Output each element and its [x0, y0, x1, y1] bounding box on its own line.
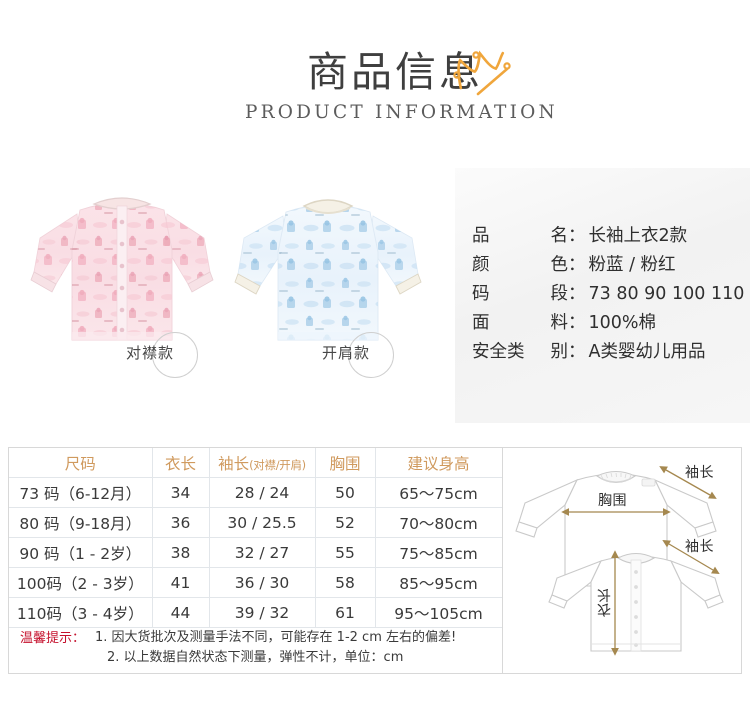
spec-value-color: 粉蓝 / 粉红: [589, 251, 676, 276]
cell-sleeve: 30 / 25.5: [209, 508, 315, 538]
spec-row-safety: 安全类 别 ： A类婴幼儿用品: [472, 338, 747, 367]
cell-chest: 61: [315, 598, 375, 628]
th-sleeve: 袖长(对襟/开肩): [209, 448, 315, 478]
cell-height: 95～105cm: [375, 598, 502, 628]
label-garment-length: 衣长: [595, 588, 615, 617]
cell-size: 90 码（1 - 2岁）: [9, 538, 152, 568]
measurement-diagram: 袖长 胸围 袖长 衣长: [502, 448, 742, 673]
cell-sleeve: 28 / 24: [209, 478, 315, 508]
blue-garment-caption: 开肩款: [322, 342, 370, 363]
spec-row-material: 面 料 ： 100%棉: [472, 309, 747, 338]
cell-height: 70～80cm: [375, 508, 502, 538]
cell-length: 34: [152, 478, 209, 508]
pink-garment-photo: [22, 180, 222, 355]
table-row: 100码（2 - 3岁） 41 36 / 30 58 85～95cm: [9, 568, 502, 598]
page-subtitle: PRODUCT INFORMATION: [245, 102, 545, 123]
cell-height: 75～85cm: [375, 538, 502, 568]
spec-colon: ：: [568, 251, 586, 276]
spec-colon: ：: [568, 222, 586, 247]
spec-row-color: 颜 色 ： 粉蓝 / 粉红: [472, 251, 747, 280]
spec-value-name: 长袖上衣2款: [589, 222, 688, 247]
cell-chest: 58: [315, 568, 375, 598]
table-header-row: 尺码 衣长 袖长(对襟/开肩) 胸围 建议身高: [9, 448, 502, 478]
cell-sleeve: 39 / 32: [209, 598, 315, 628]
size-table: 尺码 衣长 袖长(对襟/开肩) 胸围 建议身高 73 码（6-12月） 34 2…: [9, 448, 503, 668]
cell-chest: 52: [315, 508, 375, 538]
table-row: 73 码（6-12月） 34 28 / 24 50 65～75cm: [9, 478, 502, 508]
page-header: 商品信息 PRODUCT INFORMATION: [0, 0, 750, 150]
label-sleeve-top: 袖长: [685, 462, 714, 482]
cell-length: 38: [152, 538, 209, 568]
cell-length: 41: [152, 568, 209, 598]
cell-size: 80 码（9-18月）: [9, 508, 152, 538]
note-label: 温馨提示：: [20, 628, 85, 649]
pink-garment-caption: 对襟款: [126, 342, 174, 363]
cell-sleeve: 32 / 27: [209, 538, 315, 568]
spec-key-material: 面 料: [472, 309, 568, 334]
spec-key-color: 颜 色: [472, 251, 568, 276]
th-sleeve-sub: (对襟/开肩): [249, 458, 306, 472]
spec-row-sizes: 码 段 ： 73 80 90 100 110: [472, 280, 747, 309]
th-chest: 胸围: [315, 448, 375, 478]
table-note-row: 温馨提示： 1. 因大货批次及测量手法不同，可能存在 1-2 cm 左右的偏差!…: [9, 628, 502, 669]
note-line-1: 1. 因大货批次及测量手法不同，可能存在 1-2 cm 左右的偏差!: [95, 628, 456, 648]
table-row: 90 码（1 - 2岁） 38 32 / 27 55 75～85cm: [9, 538, 502, 568]
th-length: 衣长: [152, 448, 209, 478]
cell-height: 85～95cm: [375, 568, 502, 598]
cell-size: 73 码（6-12月）: [9, 478, 152, 508]
spec-key-safety: 安全类 别: [472, 338, 568, 363]
product-showcase: 对襟款: [0, 150, 750, 440]
th-size: 尺码: [9, 448, 152, 478]
cell-height: 65～75cm: [375, 478, 502, 508]
spec-value-sizes: 73 80 90 100 110: [589, 284, 745, 304]
table-row: 80 码（9-18月） 36 30 / 25.5 52 70～80cm: [9, 508, 502, 538]
cell-length: 44: [152, 598, 209, 628]
spec-colon: ：: [568, 309, 586, 334]
label-chest: 胸围: [598, 490, 627, 510]
cell-chest: 50: [315, 478, 375, 508]
cell-length: 36: [152, 508, 209, 538]
spec-key-name: 品 名: [472, 222, 568, 247]
th-sleeve-main: 袖长: [218, 455, 249, 473]
spec-value-safety: A类婴幼儿用品: [589, 338, 706, 363]
note-cell: 温馨提示： 1. 因大货批次及测量手法不同，可能存在 1-2 cm 左右的偏差!…: [9, 628, 502, 669]
crown-icon: [450, 42, 528, 104]
size-chart-area: 尺码 衣长 袖长(对襟/开肩) 胸围 建议身高 73 码（6-12月） 34 2…: [8, 447, 742, 674]
cell-sleeve: 36 / 30: [209, 568, 315, 598]
spec-list: 品 名 ： 长袖上衣2款 颜 色 ： 粉蓝 / 粉红 码 段 ： 73 80 9…: [472, 222, 747, 367]
spec-colon: ：: [568, 280, 586, 305]
th-height: 建议身高: [375, 448, 502, 478]
cell-size: 110码（3 - 4岁）: [9, 598, 152, 628]
table-row: 110码（3 - 4岁） 44 39 / 32 61 95～105cm: [9, 598, 502, 628]
cell-size: 100码（2 - 3岁）: [9, 568, 152, 598]
label-sleeve-bottom: 袖长: [685, 536, 714, 556]
blue-garment-photo: [228, 180, 428, 355]
cell-chest: 55: [315, 538, 375, 568]
spec-colon: ：: [568, 338, 586, 363]
spec-key-sizes: 码 段: [472, 280, 568, 305]
spec-value-material: 100%棉: [589, 309, 657, 334]
spec-row-name: 品 名 ： 长袖上衣2款: [472, 222, 747, 251]
note-line-2: 2. 以上数据自然状态下测量，弹性不计，单位：cm: [95, 648, 456, 668]
note-wrap: 温馨提示： 1. 因大货批次及测量手法不同，可能存在 1-2 cm 左右的偏差!…: [9, 628, 502, 668]
note-lines: 1. 因大货批次及测量手法不同，可能存在 1-2 cm 左右的偏差! 2. 以上…: [95, 628, 456, 668]
